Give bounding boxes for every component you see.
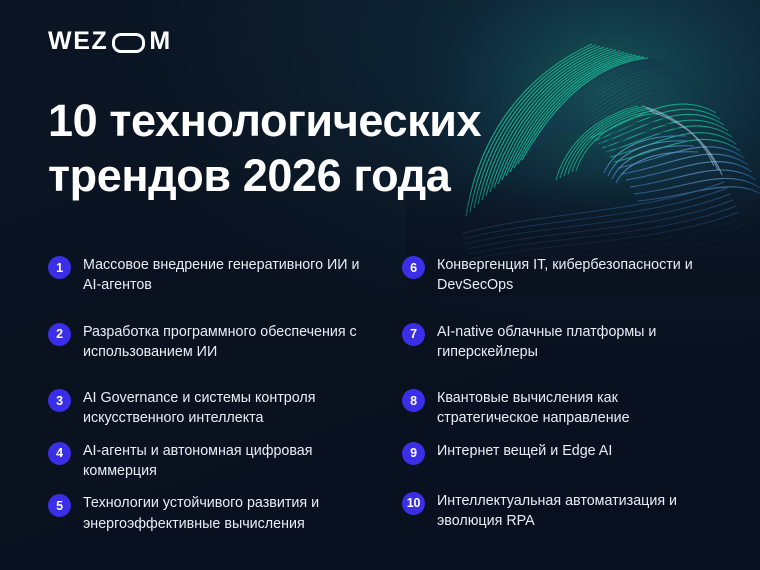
list-item: 2 Разработка программного обеспечения с …: [48, 322, 366, 363]
list-item: 9 Интернет вещей и Edge AI: [402, 441, 720, 465]
page-title: 10 технологических трендов 2026 года: [48, 94, 568, 204]
list-item-label: Массовое внедрение генеративного ИИ и AI…: [83, 255, 366, 296]
status-badge: 1: [48, 256, 71, 279]
list-item-label: Разработка программного обеспечения с ис…: [83, 322, 366, 363]
list-item: 4 AI-агенты и автономная цифровая коммер…: [48, 441, 366, 482]
poster-canvas: WEZ M 10 технологических трендов 2026 го…: [0, 0, 760, 570]
status-badge: 9: [402, 442, 425, 465]
list-item: 1 Массовое внедрение генеративного ИИ и …: [48, 255, 366, 296]
status-badge: 4: [48, 442, 71, 465]
list-item-label: Конвергенция IT, кибербезопасности и Dev…: [437, 255, 720, 296]
list-item: 10 Интеллектуальная автоматизация и эвол…: [402, 491, 720, 532]
list-item-label: Интеллектуальная автоматизация и эволюци…: [437, 491, 720, 532]
list-item-label: AI-native облачные платформы и гиперскей…: [437, 322, 720, 363]
list-item: 7 AI-native облачные платформы и гиперск…: [402, 322, 720, 363]
list-item-label: Интернет вещей и Edge AI: [437, 441, 612, 461]
status-badge: 10: [402, 492, 425, 515]
status-badge: 8: [402, 389, 425, 412]
logo-text-after: M: [149, 29, 171, 54]
list-item-label: AI-агенты и автономная цифровая коммерци…: [83, 441, 366, 482]
trends-column-left: 1 Массовое внедрение генеративного ИИ и …: [48, 255, 388, 534]
logo-text-before: WEZ: [48, 29, 108, 54]
status-badge: 3: [48, 389, 71, 412]
status-badge: 6: [402, 256, 425, 279]
list-item: 8 Квантовые вычисления как стратегическо…: [402, 388, 720, 429]
wezom-logo[interactable]: WEZ M: [48, 29, 172, 54]
list-item: 3 AI Governance и системы контроля искус…: [48, 388, 366, 429]
trends-list: 1 Массовое внедрение генеративного ИИ и …: [48, 255, 720, 534]
trends-column-right: 6 Конвергенция IT, кибербезопасности и D…: [388, 255, 720, 534]
status-badge: 2: [48, 323, 71, 346]
capsule-o-icon: [112, 33, 145, 53]
list-item-label: AI Governance и системы контроля искусст…: [83, 388, 366, 429]
list-item: 5 Технологии устойчивого развития и энер…: [48, 493, 366, 534]
list-item-label: Квантовые вычисления как стратегическое …: [437, 388, 720, 429]
list-item-label: Технологии устойчивого развития и энерго…: [83, 493, 366, 534]
status-badge: 7: [402, 323, 425, 346]
list-item: 6 Конвергенция IT, кибербезопасности и D…: [402, 255, 720, 296]
status-badge: 5: [48, 494, 71, 517]
